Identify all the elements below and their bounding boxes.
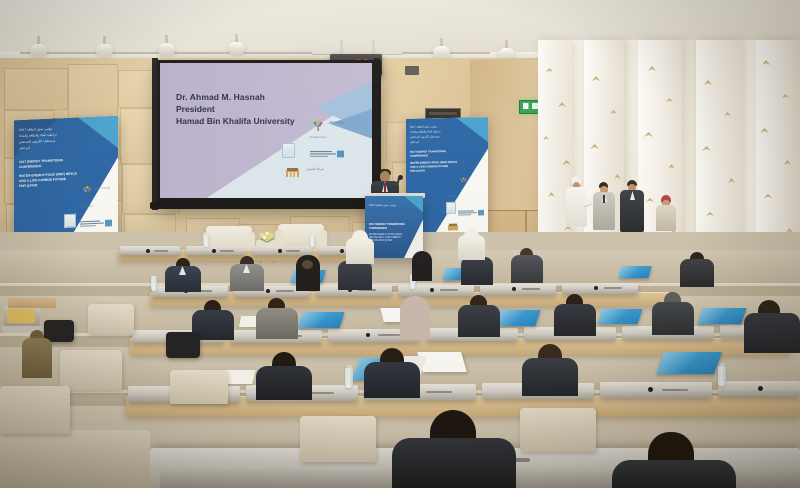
banner-r-qf-logo-icon xyxy=(458,174,469,184)
auditorium-photo: Dr. Ahmad M. Hasnah President Hamad Bin … xyxy=(0,0,800,488)
partner-logo-wordmark xyxy=(310,145,344,153)
slide-surface: Dr. Ahmad M. Hasnah President Hamad Bin … xyxy=(160,63,372,198)
side-desk-wood xyxy=(8,298,56,308)
slide-logo-arabic-caption-2: شركاء المؤتمر xyxy=(306,167,324,171)
seat-back xyxy=(0,386,70,434)
banner-partner-wordmark xyxy=(80,214,112,223)
seated-person-torso xyxy=(554,304,596,336)
seated-person-torso xyxy=(511,255,543,283)
seat-back xyxy=(300,416,376,462)
podium-english-title: 2017 ENERGY TRANSITIONS xyxy=(369,223,405,226)
foreground-person-torso xyxy=(392,438,516,488)
projector-arm xyxy=(372,40,375,55)
banner-arabic-sub-3: في قطر xyxy=(19,146,30,151)
podium-arabic-title: مؤتمر تحول الطاقة 2017 xyxy=(369,204,396,208)
seated-person-torso xyxy=(458,305,500,337)
seat-back xyxy=(88,304,134,334)
banner-r-partner-wordmark xyxy=(458,203,484,211)
person-face xyxy=(302,260,313,269)
ceiling-vent-icon xyxy=(405,66,419,75)
necktie xyxy=(603,195,605,203)
seated-person-torso xyxy=(744,313,800,353)
partner-logo-icon xyxy=(286,165,299,176)
seated-person-torso xyxy=(652,302,694,335)
projector-arm xyxy=(340,40,343,55)
banner-partner-logo-icon xyxy=(64,214,76,229)
seated-person-torso xyxy=(256,308,298,339)
seated-thobe-person xyxy=(458,235,485,260)
banner-r-arabic-sub-2: ومستقبل الكربون المنخفض xyxy=(410,135,440,140)
banner-english-sub-3: FOR QATAR xyxy=(19,183,37,188)
foreground-seat-left xyxy=(0,430,150,488)
seated-person-torso xyxy=(680,259,714,287)
seated-person-torso xyxy=(522,358,578,396)
podium-english-title-2: CONFERENCE xyxy=(369,227,387,230)
seated-person-torso xyxy=(22,338,52,378)
seated-person-light-headscarf xyxy=(400,296,430,340)
podium-english-sub: WATER-ENERGY-FOOD (WEF) NEXUS AND A LOW … xyxy=(369,234,403,244)
slide-organizer-label: Organizers xyxy=(310,135,327,139)
seat-back xyxy=(60,350,122,390)
projection-screen: Dr. Ahmad M. Hasnah President Hamad Bin … xyxy=(157,60,381,207)
screen-bottom-bar xyxy=(150,202,384,209)
slide-text-block: Dr. Ahmad M. Hasnah President Hamad Bin … xyxy=(176,91,326,127)
banner-r-arabic-sub-3: في قطر xyxy=(410,141,419,146)
seated-thobe-person xyxy=(346,238,374,264)
thobe-robe xyxy=(566,187,587,227)
seat-back xyxy=(520,408,596,452)
slide-logo-arabic-caption: مؤسسة قطر xyxy=(328,120,344,124)
banner-r-arabic-title: مؤتمر تحول الطاقة 2017 xyxy=(410,125,437,129)
banner-r-partner-logo-icon-2 xyxy=(448,218,458,226)
slide-speaker-name: Dr. Ahmad M. Hasnah xyxy=(176,91,326,103)
seated-person-torso xyxy=(461,257,493,285)
person-torso xyxy=(656,205,676,231)
banner-r-partner-logo-icon xyxy=(446,202,456,214)
slide-speaker-role: President xyxy=(176,103,326,115)
seated-person-hijab xyxy=(412,251,432,281)
shoulder-bag xyxy=(166,332,200,358)
banner-r-english-sub-3: FOR QATAR xyxy=(410,169,425,174)
foreground-person-torso xyxy=(612,460,736,488)
slide-organization: Hamad Bin Khalifa University xyxy=(176,115,326,127)
podium-microphone-icon xyxy=(398,175,403,180)
seat-back xyxy=(170,370,228,404)
partner-logo-icon xyxy=(282,143,295,158)
banner-r-english-title-2: CONFERENCE xyxy=(410,154,428,159)
seated-person-torso xyxy=(338,261,372,290)
qatar-foundation-logo-icon xyxy=(310,119,326,133)
seated-person-torso xyxy=(256,366,312,400)
laptop-screen-content xyxy=(7,309,35,323)
flower-arrangement xyxy=(258,230,276,242)
speaker-tie xyxy=(384,183,386,192)
banner-qf-logo-icon xyxy=(80,185,94,199)
seated-person-torso xyxy=(364,362,420,398)
